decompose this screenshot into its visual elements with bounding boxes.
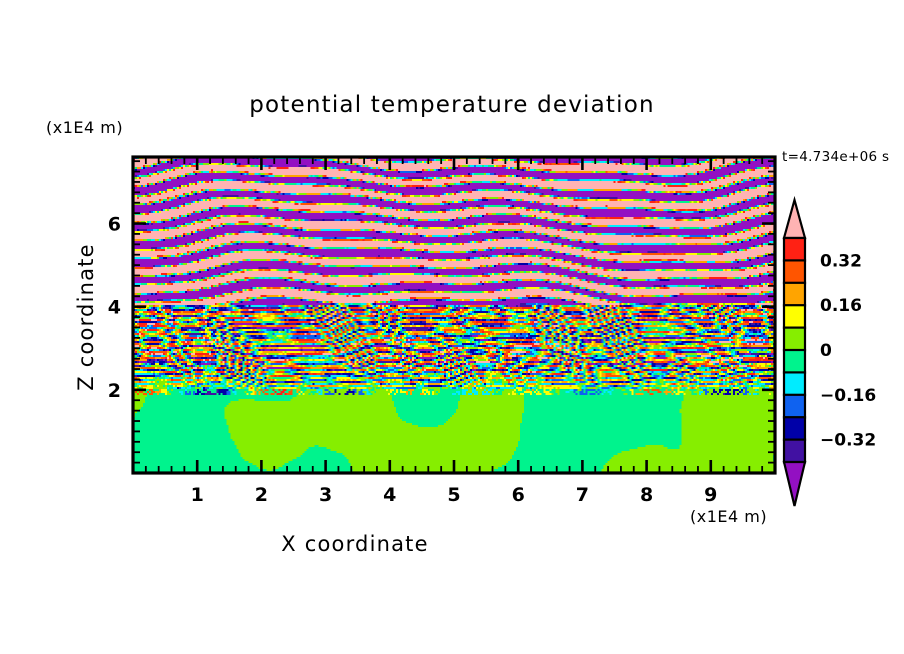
x-tick-label: 1 [191,484,204,506]
colorbar[interactable] [784,200,805,506]
x-axis-unit-label: (x1E4 m) [690,507,767,526]
x-axis-label: X coordinate [281,532,428,556]
x-tick-label: 7 [576,484,589,506]
figure-root: potential temperature deviation (x1E4 m)… [0,0,904,654]
colorbar-band [784,283,805,306]
colorbar-band [784,328,805,351]
colorbar-band [784,372,805,395]
x-tick-label: 8 [640,484,653,506]
colorbar-band [784,440,805,463]
timestamp-annotation: t=4.734e+06 s [782,149,889,165]
contour-plot-svg: potential temperature deviation (x1E4 m)… [0,0,904,654]
x-tick-label: 6 [512,484,525,506]
colorbar-band [784,350,805,373]
colorbar-tick-label: −0.32 [820,431,876,451]
colorbar-band [784,395,805,418]
colorbar-band [784,238,805,261]
y-tick-label: 2 [108,380,121,402]
x-tick-label: 5 [447,484,460,506]
colorbar-band [784,417,805,440]
y-tick-label: 6 [108,214,121,236]
plot-title: potential temperature deviation [249,92,655,118]
colorbar-tick-label: 0.16 [820,296,862,316]
y-tick-label: 4 [108,297,121,319]
colorbar-tick-label: 0 [820,341,832,361]
colorbar-tick-label: 0.32 [820,251,862,271]
y-axis-unit-label: (x1E4 m) [46,118,123,137]
x-tick-label: 2 [255,484,268,506]
y-axis-label: Z coordinate [74,243,98,390]
x-tick-label: 9 [704,484,717,506]
colorbar-band [784,260,805,283]
x-tick-label: 4 [383,484,396,506]
colorbar-tick-label: −0.16 [820,386,876,406]
x-tick-label: 3 [319,484,332,506]
colorbar-band [784,305,805,328]
contour-field [133,157,776,474]
